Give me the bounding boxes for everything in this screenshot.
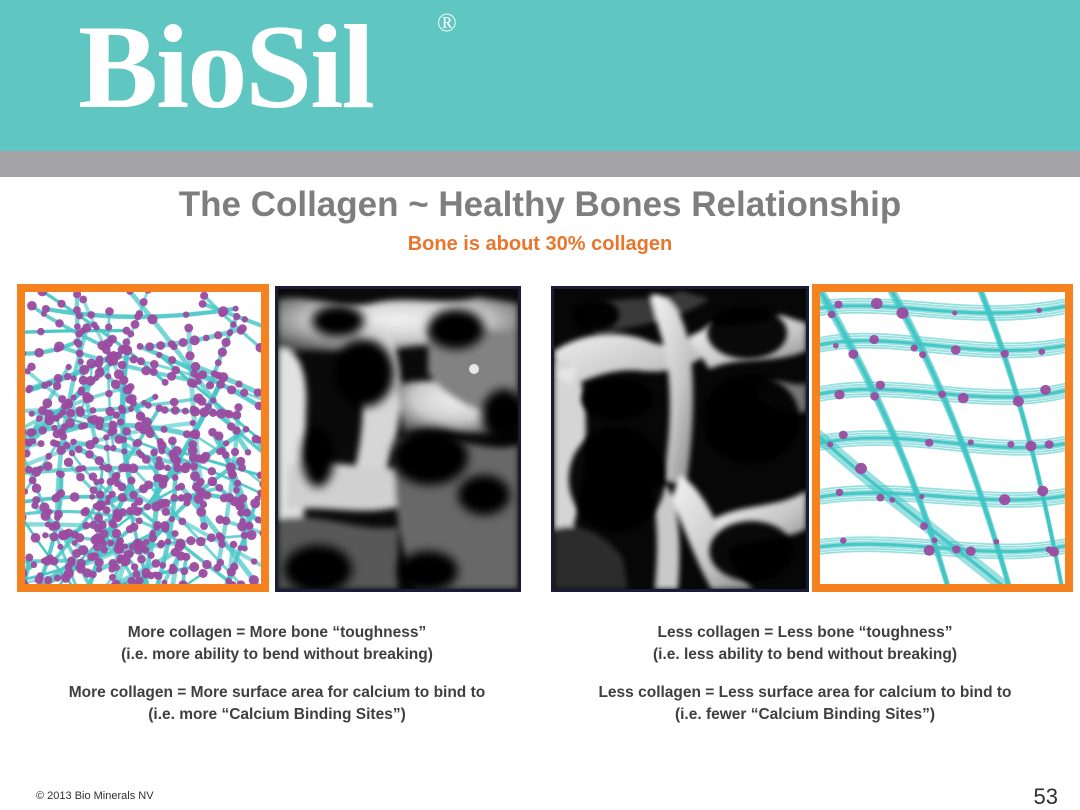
caption-left-p1-line2: (i.e. more ability to bend without break… <box>12 644 542 666</box>
caption-right-p1-line1: Less collagen = Less bone “toughness” <box>540 622 1070 644</box>
page-subtitle: Bone is about 30% collagen <box>0 233 1080 256</box>
caption-right-p1-line2: (i.e. less ability to bend without break… <box>540 644 1070 666</box>
caption-left-p2-line2: (i.e. more “Calcium Binding Sites”) <box>12 704 542 726</box>
dense-collagen-illustration <box>25 292 261 584</box>
osteoporotic-bone-micrograph <box>554 289 806 589</box>
healthy-bone-micrograph <box>278 289 518 589</box>
caption-right-p2-line2: (i.e. fewer “Calcium Binding Sites”) <box>540 704 1070 726</box>
figure-healthy-bone-micrograph <box>275 286 521 592</box>
figure-osteoporotic-bone-micrograph <box>551 286 809 592</box>
caption-right-paragraph-2: Less collagen = Less surface area for ca… <box>540 682 1070 726</box>
caption-left-p1-line1: More collagen = More bone “toughness” <box>12 622 542 644</box>
figure-dense-collagen-network <box>17 284 269 592</box>
header-teal-band: BioSil ® <box>0 0 1080 151</box>
figure-row <box>0 284 1080 594</box>
sparse-collagen-illustration <box>820 292 1065 584</box>
footer-page-number: 53 <box>1034 784 1058 810</box>
registered-trademark-icon: ® <box>437 8 457 38</box>
caption-left-paragraph-2: More collagen = More surface area for ca… <box>12 682 542 726</box>
slide-root: BioSil ® The Collagen ~ Healthy Bones Re… <box>0 0 1080 810</box>
caption-left-paragraph-1: More collagen = More bone “toughness” (i… <box>12 622 542 666</box>
caption-right-paragraph-1: Less collagen = Less bone “toughness” (i… <box>540 622 1070 666</box>
figure-sparse-collagen-network <box>812 284 1073 592</box>
header-gray-band <box>0 151 1080 177</box>
brand-logo: BioSil <box>78 2 373 132</box>
caption-right: Less collagen = Less bone “toughness” (i… <box>540 622 1070 726</box>
caption-left: More collagen = More bone “toughness” (i… <box>12 622 542 726</box>
caption-left-p2-line1: More collagen = More surface area for ca… <box>12 682 542 704</box>
footer-copyright: © 2013 Bio Minerals NV <box>36 790 154 802</box>
caption-right-p2-line1: Less collagen = Less surface area for ca… <box>540 682 1070 704</box>
page-title: The Collagen ~ Healthy Bones Relationshi… <box>0 185 1080 225</box>
